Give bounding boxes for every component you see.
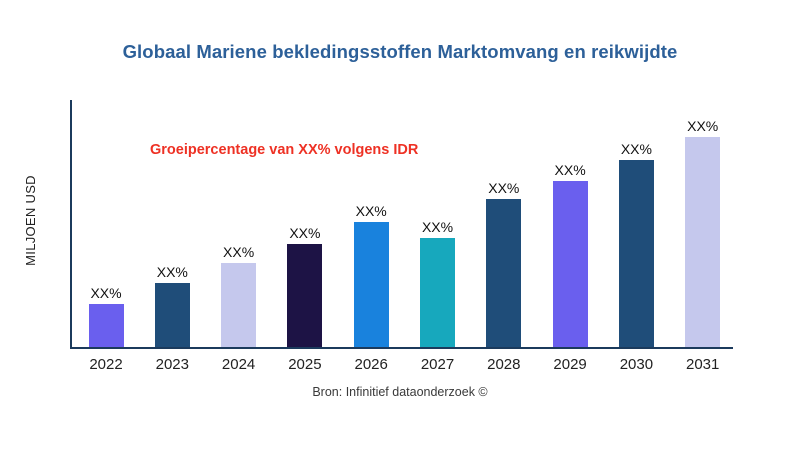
x-tick-2026: 2026 (355, 356, 388, 373)
bar-group[interactable]: XX% (420, 101, 455, 348)
y-axis-line (70, 100, 72, 348)
bar-value-label: XX% (621, 141, 652, 157)
x-tick-2025: 2025 (288, 356, 321, 373)
bar-2029[interactable] (553, 181, 588, 347)
y-axis-title-label: MILJOEN USD (23, 175, 38, 266)
bar-group[interactable]: XX% (221, 101, 256, 348)
bar-2025[interactable] (287, 244, 322, 347)
bar-2031[interactable] (685, 137, 720, 347)
bar-value-label: XX% (555, 162, 586, 178)
x-tick-2030: 2030 (620, 356, 653, 373)
bar-value-label: XX% (90, 285, 121, 301)
chart-container: Globaal Mariene bekledingsstoffen Markto… (0, 0, 800, 450)
bar-2026[interactable] (354, 222, 389, 347)
x-tick-2029: 2029 (553, 356, 586, 373)
bar-2024[interactable] (221, 263, 256, 347)
bar-2027[interactable] (420, 238, 455, 347)
bar-2023[interactable] (155, 283, 190, 347)
bar-group[interactable]: XX% (155, 101, 190, 348)
source-note: Bron: Infinitief dataonderzoek © (0, 385, 800, 399)
bar-value-label: XX% (687, 118, 718, 134)
x-tick-2022: 2022 (89, 356, 122, 373)
x-tick-2023: 2023 (156, 356, 189, 373)
bar-group[interactable]: XX% (619, 101, 654, 348)
bar-value-label: XX% (488, 180, 519, 196)
bar-2030[interactable] (619, 160, 654, 347)
x-tick-2027: 2027 (421, 356, 454, 373)
x-tick-2031: 2031 (686, 356, 719, 373)
bar-value-label: XX% (289, 225, 320, 241)
bar-value-label: XX% (422, 219, 453, 235)
bar-2022[interactable] (89, 304, 124, 347)
bar-group[interactable]: XX% (553, 101, 588, 348)
x-tick-2024: 2024 (222, 356, 255, 373)
bar-2028[interactable] (486, 199, 521, 347)
plot-area: Groeipercentage van XX% volgens IDR XX%X… (70, 100, 733, 348)
bar-value-label: XX% (223, 244, 254, 260)
bar-group[interactable]: XX% (89, 101, 124, 348)
x-tick-2028: 2028 (487, 356, 520, 373)
bar-group[interactable]: XX% (287, 101, 322, 348)
bar-group[interactable]: XX% (486, 101, 521, 348)
y-axis-title: MILJOEN USD (10, 130, 50, 310)
bar-value-label: XX% (356, 203, 387, 219)
bar-group[interactable]: XX% (354, 101, 389, 348)
bar-group[interactable]: XX% (685, 101, 720, 348)
chart-title: Globaal Mariene bekledingsstoffen Markto… (0, 41, 800, 63)
bar-value-label: XX% (157, 264, 188, 280)
